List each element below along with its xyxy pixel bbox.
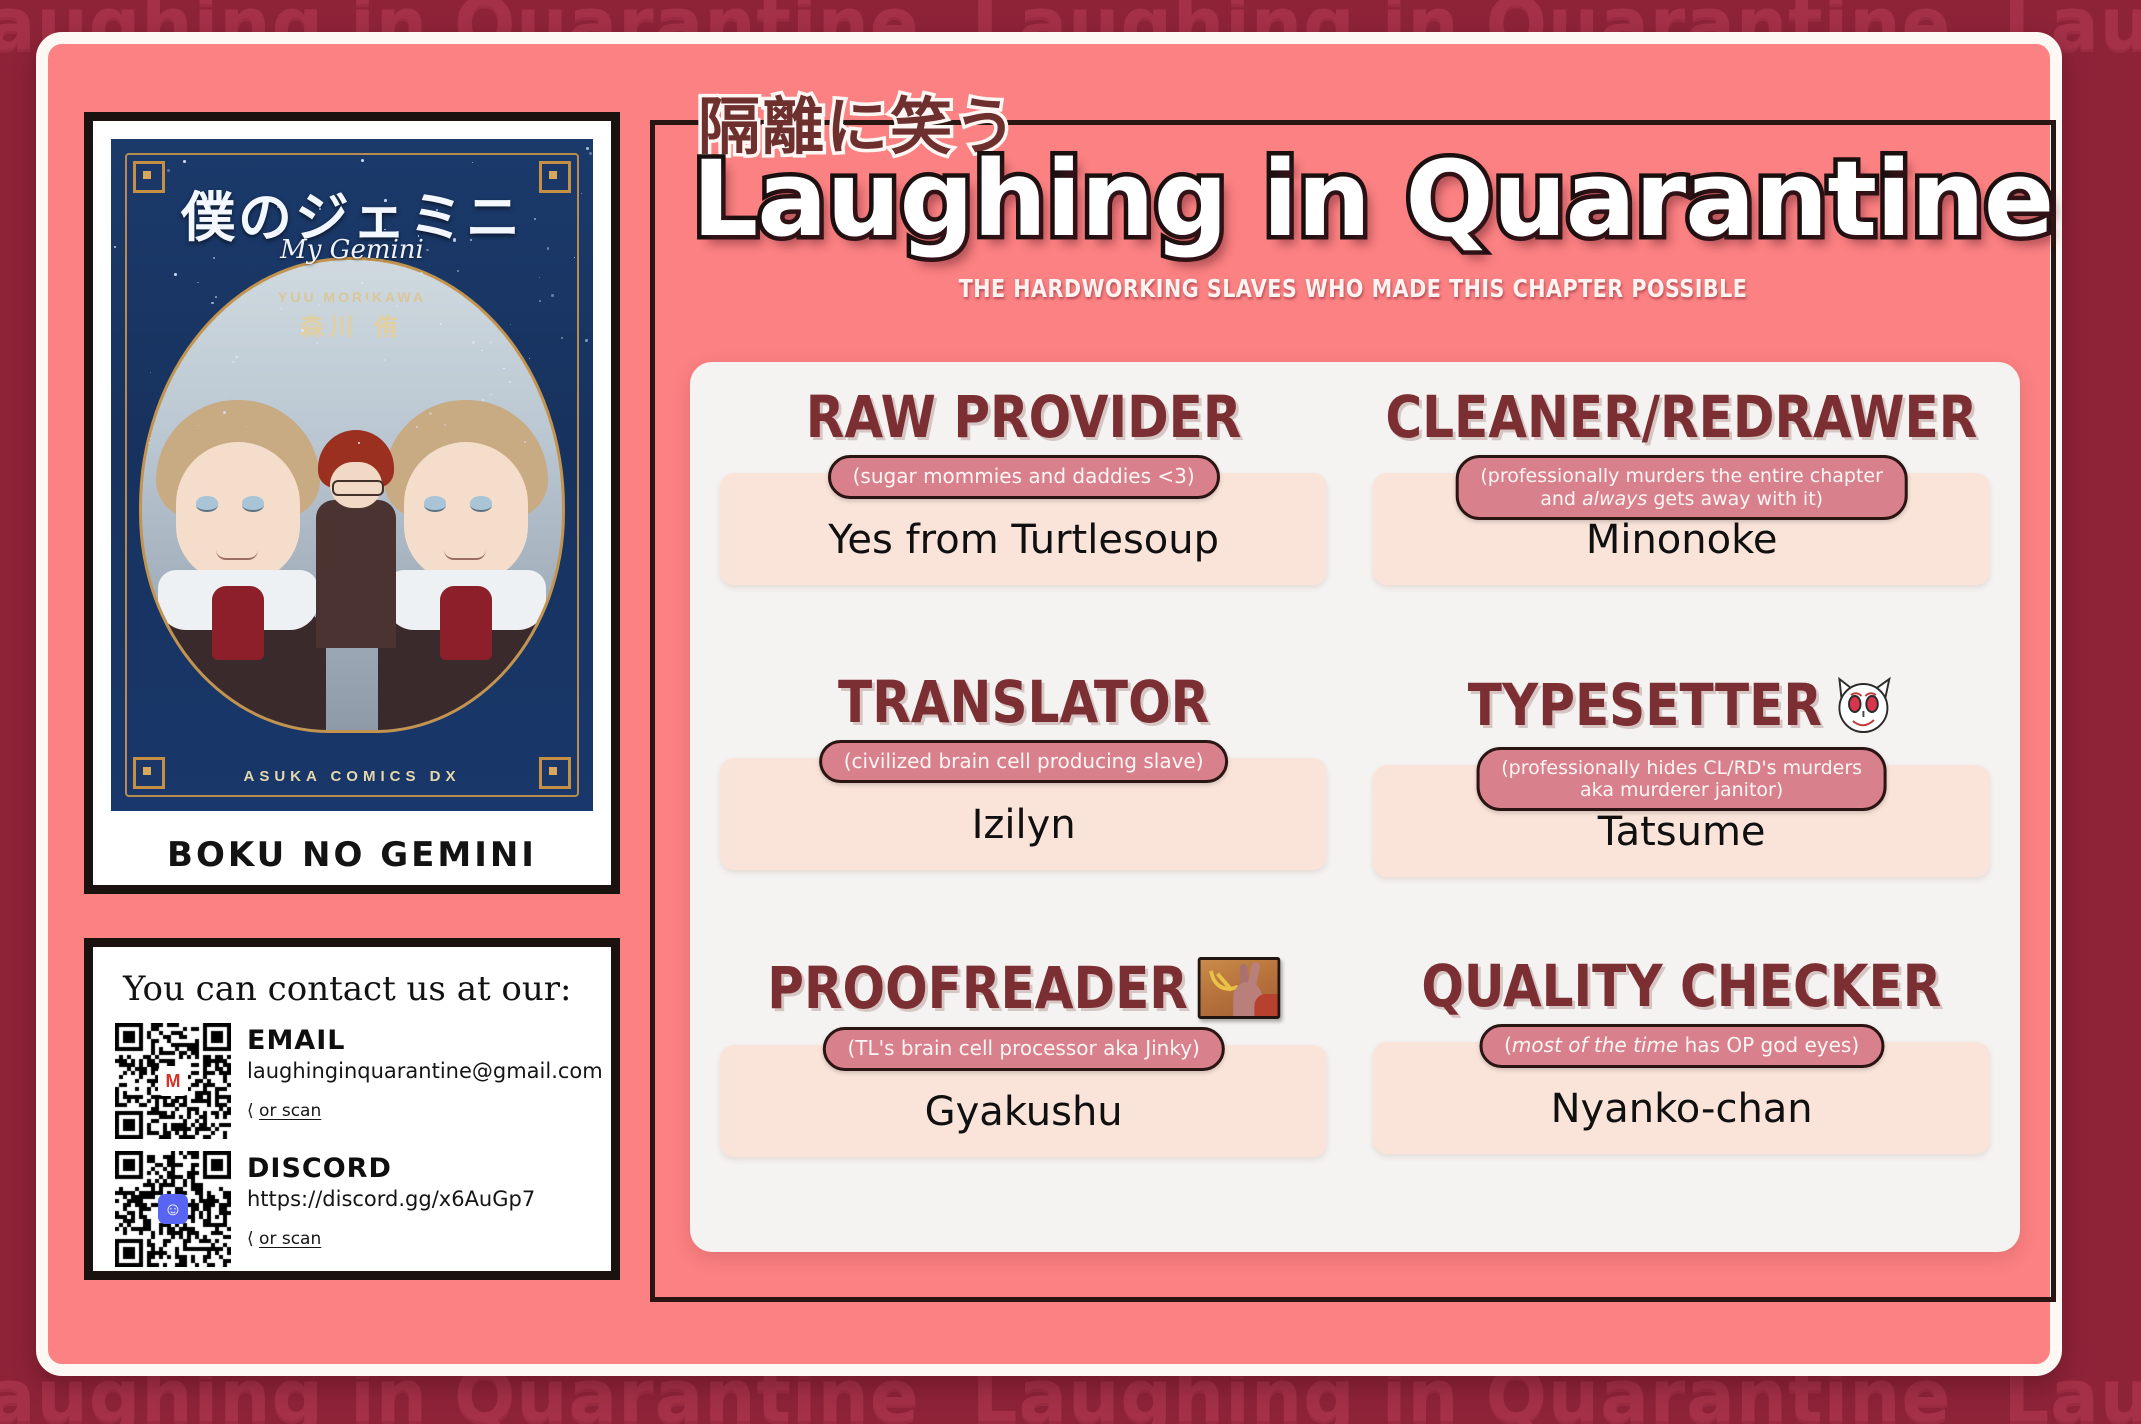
credit-name: Minonoke	[1586, 517, 1778, 563]
contact-scan-hint: ⟨ or scan	[247, 1101, 603, 1121]
manga-cover-panel: 僕のジェミニ My Gemini YUU MORIKAWA 森川 侑 ASUKA…	[84, 112, 620, 894]
role-title-text: PROOFREADER	[767, 959, 1188, 1018]
cover-character-boy	[310, 430, 402, 644]
cover-title-en: My Gemini	[111, 235, 593, 265]
role-title: CLEANER/REDRAWER	[1386, 388, 1978, 447]
credit-name: Tatsume	[1598, 809, 1766, 855]
credit-translator: TRANSLATOR (civilized brain cell produci…	[720, 665, 1327, 950]
discord-icon: ☺	[158, 1194, 188, 1224]
communist-bunny-thumbnail-icon	[1197, 957, 1280, 1019]
contact-item-discord: ☺ DISCORD https://discord.gg/x6AuGp7 ⟨ o…	[115, 1151, 589, 1267]
credit-cleaner-redrawer: CLEANER/REDRAWER (professionally murders…	[1373, 380, 1990, 665]
credit-typesetter: TYPESETTER (professionally hides CL/RD's…	[1373, 665, 1990, 950]
cover-character-twin-right	[378, 400, 554, 730]
role-badge: (sugar mommies and daddies <3)	[828, 455, 1220, 499]
role-badge: (TL's brain cell processor aka Jinky)	[822, 1027, 1224, 1071]
qr-code-discord[interactable]: ☺	[115, 1151, 231, 1267]
role-title: TRANSLATOR	[732, 673, 1315, 732]
contact-heading: You can contact us at our:	[123, 969, 589, 1009]
gmail-icon: M	[158, 1066, 188, 1096]
credit-proofreader: PROOFREADER (TL's brain cell processor a…	[720, 949, 1327, 1234]
role-title-text: RAW PROVIDER	[806, 388, 1242, 447]
credit-quality-checker: QUALITY CHECKER (most of the time has OP…	[1373, 949, 1990, 1234]
contact-discord-value[interactable]: https://discord.gg/x6AuGp7	[247, 1187, 589, 1211]
role-title-text: QUALITY CHECKER	[1422, 957, 1942, 1016]
cover-imprint-label: ASUKA COMICS DX	[111, 768, 593, 785]
white-cat-face-icon	[1832, 673, 1895, 735]
credit-name: Yes from Turtlesoup	[828, 517, 1219, 563]
credits-grid: RAW PROVIDER (sugar mommies and daddies …	[690, 362, 2020, 1252]
role-title: RAW PROVIDER	[732, 388, 1315, 447]
role-badge: (professionally murders the entire chapt…	[1455, 455, 1908, 520]
role-title-text: CLEANER/REDRAWER	[1386, 388, 1978, 447]
role-title: TYPESETTER	[1386, 673, 1978, 739]
role-badge: (professionally hides CL/RD's murders ak…	[1476, 747, 1887, 812]
contact-email-value[interactable]: laughinginquarantine@gmail.com	[247, 1059, 603, 1083]
contact-scan-hint: ⟨ or scan	[247, 1229, 589, 1249]
cover-caption: BOKU NO GEMINI	[111, 811, 593, 899]
contact-item-email: M EMAIL laughinginquarantine@gmail.com ⟨…	[115, 1023, 589, 1139]
contact-kind-label: DISCORD	[247, 1153, 589, 1184]
role-title: PROOFREADER	[732, 957, 1315, 1019]
role-badge: (most of the time has OP god eyes)	[1479, 1024, 1884, 1068]
contact-panel: You can contact us at our: M EMAIL laugh…	[84, 938, 620, 1280]
role-badge: (civilized brain cell producing slave)	[819, 740, 1229, 784]
cover-author-romaji: YUU MORIKAWA	[111, 289, 593, 305]
credit-name: Gyakushu	[925, 1089, 1123, 1135]
manga-cover-art: 僕のジェミニ My Gemini YUU MORIKAWA 森川 侑 ASUKA…	[111, 139, 593, 811]
cover-author-jp: 森川 侑	[111, 307, 593, 342]
credit-name: Izilyn	[972, 802, 1076, 848]
credit-name: Nyanko-chan	[1551, 1086, 1813, 1132]
cover-character-twin-left	[150, 400, 326, 730]
role-title-text: TRANSLATOR	[838, 673, 1209, 732]
qr-code-email[interactable]: M	[115, 1023, 231, 1139]
role-title: QUALITY CHECKER	[1386, 957, 1978, 1016]
contact-kind-label: EMAIL	[247, 1025, 603, 1056]
role-title-text: TYPESETTER	[1468, 676, 1822, 735]
credit-raw-provider: RAW PROVIDER (sugar mommies and daddies …	[720, 380, 1327, 665]
